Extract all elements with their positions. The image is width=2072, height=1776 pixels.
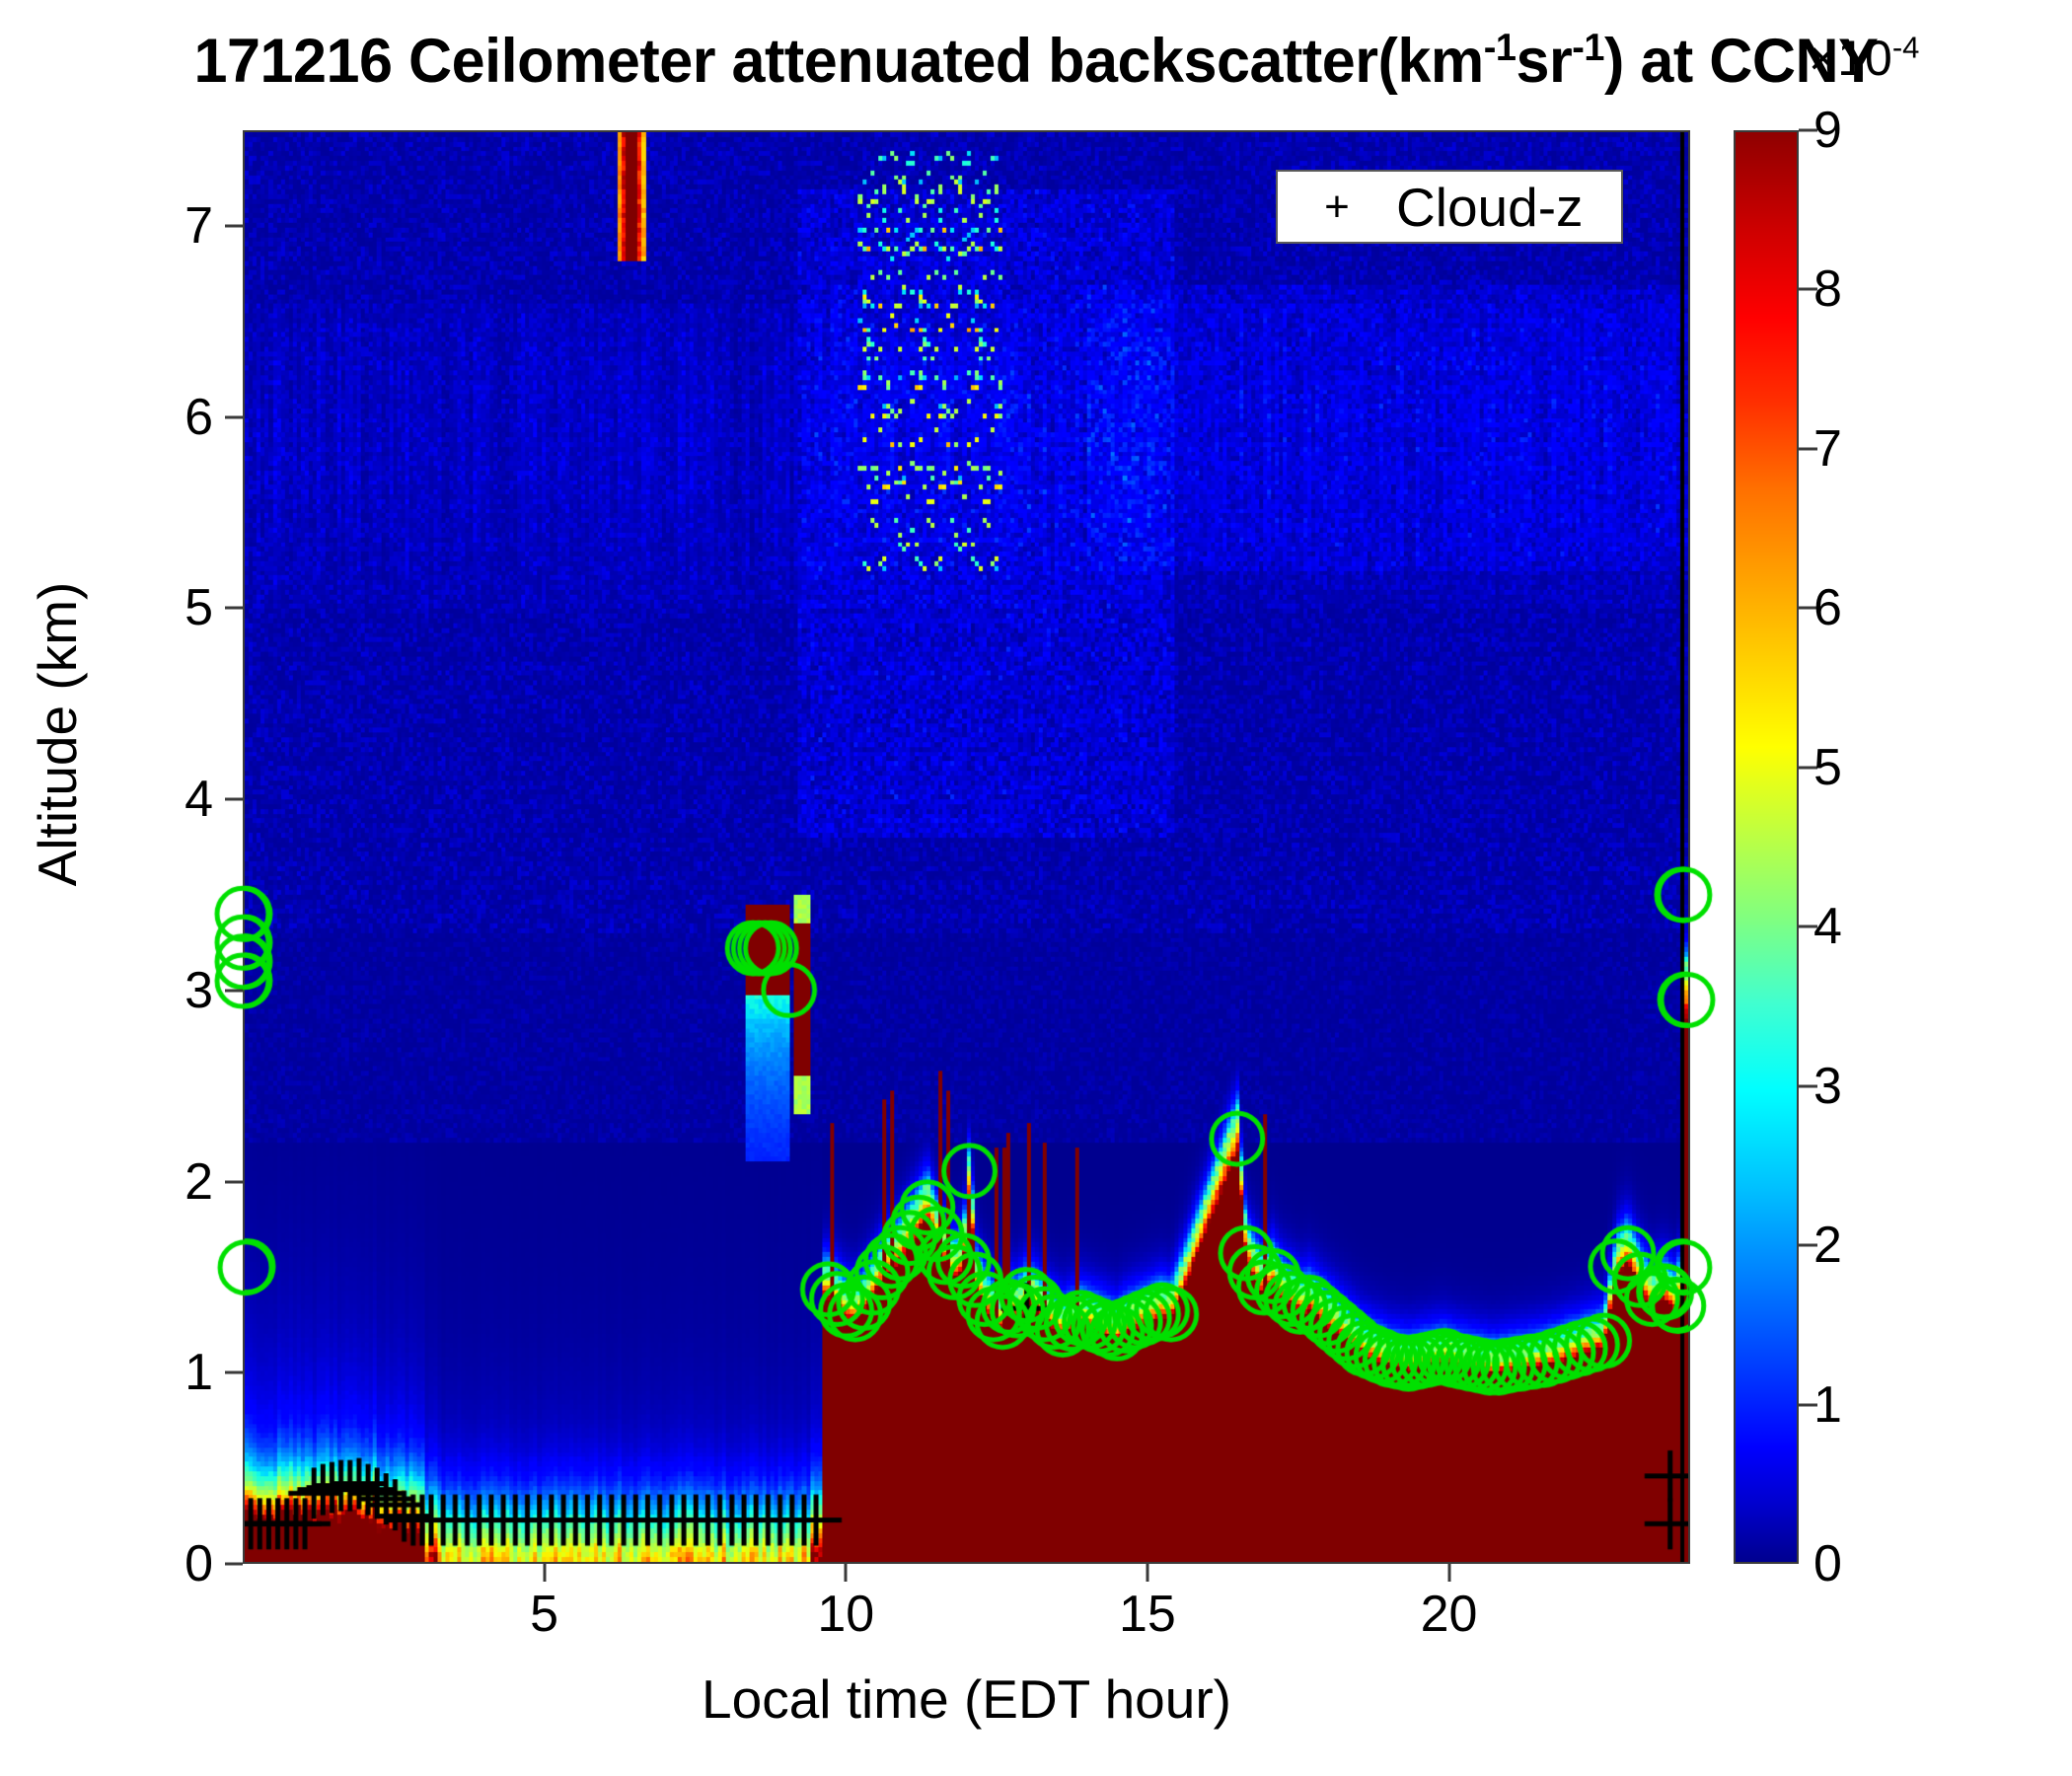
- y-tick-label: 7: [185, 196, 213, 256]
- y-tick-mark: [225, 989, 243, 992]
- colorbar-tick-label: 4: [1813, 897, 1842, 956]
- legend-plus-icon: +: [1278, 185, 1396, 229]
- y-tick-mark: [225, 1180, 243, 1183]
- x-tick-mark: [543, 1564, 546, 1582]
- colorbar-exponent-power: -4: [1892, 30, 1920, 64]
- y-tick-label: 5: [185, 578, 213, 637]
- legend-label-cloud-z: Cloud-z: [1396, 176, 1584, 239]
- colorbar-tick-label: 7: [1813, 419, 1842, 479]
- y-tick-label: 1: [185, 1343, 213, 1402]
- x-tick-label: 20: [1421, 1585, 1478, 1644]
- title-exponent-1: -1: [1484, 27, 1517, 69]
- title-mid: sr: [1516, 27, 1572, 96]
- x-tick-label: 10: [817, 1585, 874, 1644]
- page-title: 171216 Ceilometer attenuated backscatter…: [32, 26, 2041, 97]
- y-tick-label: 4: [185, 770, 213, 829]
- colorbar-tick-label: 2: [1813, 1216, 1842, 1275]
- colorbar-exponent-prefix: ×10: [1809, 31, 1892, 86]
- x-tick-mark: [1146, 1564, 1148, 1582]
- y-tick-label: 0: [185, 1534, 213, 1593]
- x-tick-mark: [845, 1564, 848, 1582]
- colorbar-tick-label: 9: [1813, 101, 1842, 160]
- x-tick-label: 15: [1119, 1585, 1176, 1644]
- y-tick-mark: [225, 798, 243, 801]
- y-tick-mark: [225, 607, 243, 610]
- title-prefix: 171216 Ceilometer attenuated backscatter…: [194, 27, 1484, 96]
- x-axis-label: Local time (EDT hour): [243, 1667, 1690, 1731]
- y-tick-label: 3: [185, 961, 213, 1020]
- y-tick-mark: [225, 415, 243, 418]
- y-axis-label: Altitude (km): [26, 458, 89, 1010]
- colorbar-tick-label: 6: [1813, 578, 1842, 637]
- y-tick-label: 6: [185, 388, 213, 447]
- y-tick-mark: [225, 224, 243, 227]
- y-tick-mark: [225, 1371, 243, 1374]
- colorbar-tick-label: 1: [1813, 1375, 1842, 1435]
- colorbar[interactable]: [1734, 130, 1799, 1564]
- x-tick-label: 5: [530, 1585, 558, 1644]
- heatmap-plot-area: [243, 130, 1690, 1564]
- colorbar-exponent: ×10-4: [1809, 30, 1919, 87]
- y-tick-label: 2: [185, 1152, 213, 1212]
- colorbar-tick-label: 8: [1813, 259, 1842, 319]
- colorbar-tick-label: 3: [1813, 1057, 1842, 1116]
- colorbar-tick-label: 5: [1813, 738, 1842, 797]
- colorbar-tick-label: 0: [1813, 1534, 1842, 1593]
- title-exponent-2: -1: [1572, 27, 1604, 69]
- cloud-marker-overlay-canvas: [245, 132, 1688, 1562]
- legend-box[interactable]: + Cloud-z: [1276, 170, 1623, 244]
- x-tick-mark: [1447, 1564, 1450, 1582]
- y-tick-mark: [225, 1563, 243, 1566]
